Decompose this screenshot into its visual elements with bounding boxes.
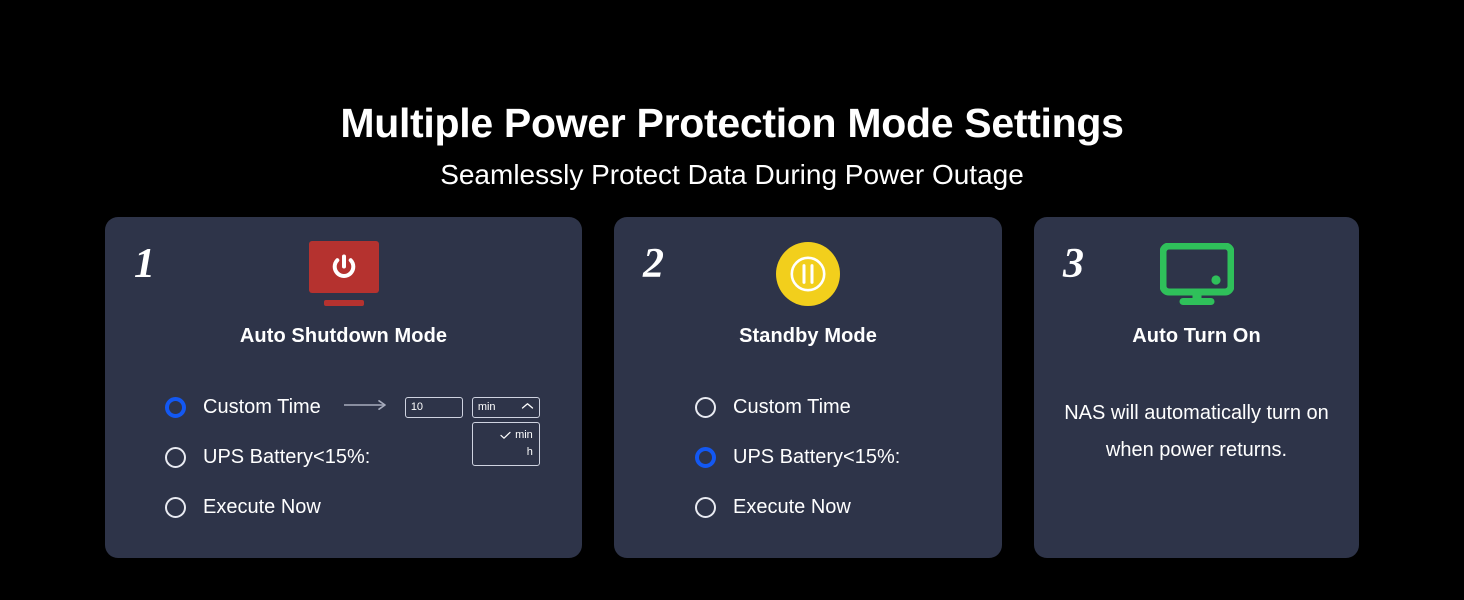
radio-ups-battery-1[interactable] <box>165 447 186 468</box>
option-label-execute-now-1: Execute Now <box>203 496 321 519</box>
step-number-1: 1 <box>134 243 155 285</box>
card-standby-mode[interactable]: 2 Standby Mode Custom Time UPS Battery<1… <box>614 217 1002 558</box>
custom-time-control: min <box>343 397 540 418</box>
card-1-icon-wrap <box>105 217 582 313</box>
custom-time-unit-select-wrap: min <box>472 397 540 418</box>
card-2-heading: Standby Mode <box>614 325 1002 348</box>
radio-execute-now-1[interactable] <box>165 497 186 518</box>
card-2-options: Custom Time UPS Battery<15%: Execute Now <box>614 382 1002 532</box>
dropdown-option-h-label: h <box>527 446 533 458</box>
option-row-custom-time-2[interactable]: Custom Time <box>695 382 1002 432</box>
page-title: Multiple Power Protection Mode Settings <box>0 101 1464 147</box>
step-number-3: 3 <box>1063 243 1084 285</box>
pause-standby-icon <box>776 242 840 306</box>
custom-time-unit-dropdown[interactable]: min h <box>472 422 540 466</box>
option-label-custom-time-1: Custom Time <box>203 396 321 419</box>
radio-custom-time-1[interactable] <box>165 397 186 418</box>
chevron-up-icon <box>521 401 534 413</box>
power-shutdown-monitor-icon <box>309 241 379 307</box>
page-subtitle: Seamlessly Protect Data During Power Out… <box>0 147 1464 192</box>
option-label-ups-battery-2: UPS Battery<15%: <box>733 446 900 469</box>
option-row-custom-time-1[interactable]: Custom Time min <box>165 382 582 432</box>
page-header: Multiple Power Protection Mode Settings … <box>0 0 1464 192</box>
option-label-custom-time-2: Custom Time <box>733 396 851 419</box>
card-2-icon-wrap <box>614 217 1002 313</box>
option-label-ups-battery-1: UPS Battery<15%: <box>203 446 370 469</box>
card-3-heading: Auto Turn On <box>1034 325 1359 348</box>
custom-time-unit-value: min <box>478 401 496 413</box>
dropdown-option-h[interactable]: h <box>473 444 539 461</box>
monitor-power-on-icon <box>1160 243 1234 305</box>
radio-custom-time-2[interactable] <box>695 397 716 418</box>
radio-ups-battery-2[interactable] <box>695 447 716 468</box>
check-icon <box>499 431 511 440</box>
card-1-heading: Auto Shutdown Mode <box>105 325 582 348</box>
custom-time-unit-select[interactable]: min <box>472 397 540 418</box>
option-row-execute-now-2[interactable]: Execute Now <box>695 482 1002 532</box>
card-auto-shutdown-mode[interactable]: 1 Auto Shutdown Mode Custom Time <box>105 217 582 558</box>
arrow-right-icon <box>343 398 391 416</box>
custom-time-amount-input[interactable] <box>405 397 463 418</box>
option-row-execute-now-1[interactable]: Execute Now <box>165 482 582 532</box>
dropdown-option-min-label: min <box>515 429 533 441</box>
card-3-description: NAS will automatically turn on when powe… <box>1034 395 1359 469</box>
option-row-ups-battery-2[interactable]: UPS Battery<15%: <box>695 432 1002 482</box>
step-number-2: 2 <box>643 243 664 285</box>
card-auto-turn-on[interactable]: 3 Auto Turn On NAS will automatically tu… <box>1034 217 1359 558</box>
mode-cards-row: 1 Auto Shutdown Mode Custom Time <box>105 217 1359 558</box>
option-label-execute-now-2: Execute Now <box>733 496 851 519</box>
card-1-options: Custom Time min <box>105 382 582 532</box>
dropdown-option-min[interactable]: min <box>473 427 539 444</box>
radio-execute-now-2[interactable] <box>695 497 716 518</box>
